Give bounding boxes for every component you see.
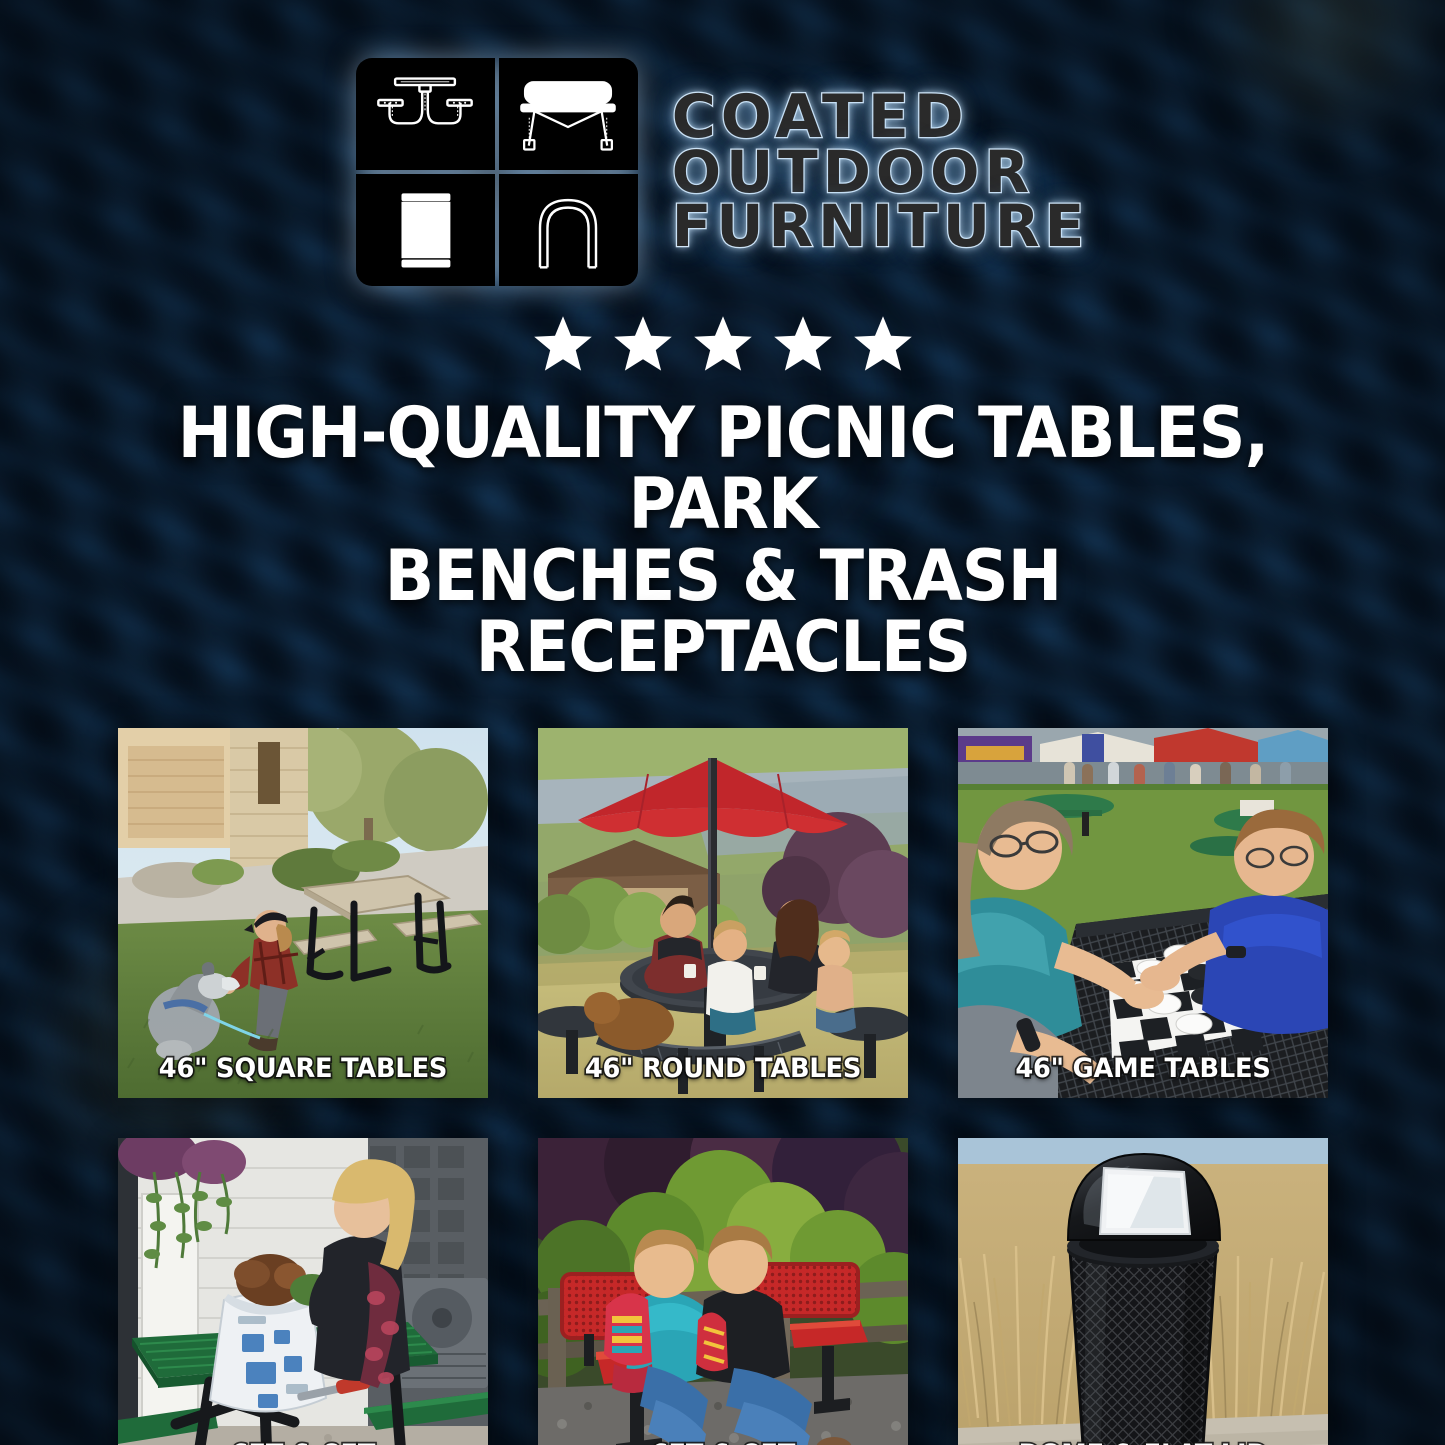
product-photo-rectangular-tables [118, 1138, 488, 1445]
logo-mark [356, 58, 638, 286]
caption-line: 46" GAME TABLES [967, 1055, 1319, 1083]
product-photo-benches [538, 1138, 908, 1445]
product-caption-trash-receptacles: DOME & FLAT LID TRASH RECEPTACLES [967, 1441, 1319, 1445]
star-icon [770, 312, 836, 376]
bike-rack-arch-icon [512, 185, 624, 275]
brand-logo-lockup: COATED OUTDOOR FURNITURE [356, 58, 1089, 286]
product-caption-round-tables: 46" ROUND TABLES [547, 1055, 899, 1083]
promo-poster: COATED OUTDOOR FURNITURE HIGH-QUALITY PI… [0, 0, 1445, 1445]
product-photo-round-tables [538, 728, 908, 1098]
bench-side-view-icon [512, 69, 624, 159]
product-caption-game-tables: 46" GAME TABLES [967, 1055, 1319, 1083]
product-tile-rectangular-tables[interactable]: 6FT & 8FT RECTANGULAR TABLES [118, 1138, 488, 1445]
star-icon [530, 312, 596, 376]
product-tile-game-tables[interactable]: 46" GAME TABLES [958, 728, 1328, 1098]
star-icon [850, 312, 916, 376]
star-rating [530, 312, 916, 376]
product-grid: 46" SQUARE TABLES [118, 728, 1328, 1445]
picnic-table-frame-icon [369, 69, 481, 159]
product-tile-benches[interactable]: 6FT & 8FT BENCHES [538, 1138, 908, 1445]
product-photo-square-tables [118, 728, 488, 1098]
headline: HIGH-QUALITY PICNIC TABLES, PARK BENCHES… [146, 398, 1299, 684]
product-tile-round-tables[interactable]: 46" ROUND TABLES [538, 728, 908, 1098]
product-tile-square-tables[interactable]: 46" SQUARE TABLES [118, 728, 488, 1098]
product-tile-trash-receptacles[interactable]: DOME & FLAT LID TRASH RECEPTACLES [958, 1138, 1328, 1445]
caption-line: 6FT & 8FT [127, 1441, 479, 1445]
product-caption-square-tables: 46" SQUARE TABLES [127, 1055, 479, 1083]
product-photo-game-tables [958, 728, 1328, 1098]
logo-tile-bench-table [499, 58, 638, 170]
headline-line-1: HIGH-QUALITY PICNIC TABLES, PARK [146, 398, 1299, 541]
caption-line: 46" ROUND TABLES [547, 1055, 899, 1083]
headline-line-2: BENCHES & TRASH RECEPTACLES [146, 541, 1299, 684]
logo-tile-bike-rack [499, 174, 638, 286]
logo-tile-trash-receptacle [356, 174, 495, 286]
caption-line: DOME & FLAT LID [967, 1441, 1319, 1445]
product-caption-benches: 6FT & 8FT BENCHES [547, 1441, 899, 1445]
trash-receptacle-icon [369, 185, 481, 275]
product-caption-rectangular-tables: 6FT & 8FT RECTANGULAR TABLES [127, 1441, 479, 1445]
caption-line: 6FT & 8FT [547, 1441, 899, 1445]
caption-line: 46" SQUARE TABLES [127, 1055, 479, 1083]
logo-tile-picnic-table [356, 58, 495, 170]
brand-name: COATED OUTDOOR FURNITURE [672, 90, 1089, 254]
star-icon [690, 312, 756, 376]
product-photo-trash-receptacles [958, 1138, 1328, 1445]
brand-name-line-3: FURNITURE [672, 200, 1089, 254]
star-icon [610, 312, 676, 376]
